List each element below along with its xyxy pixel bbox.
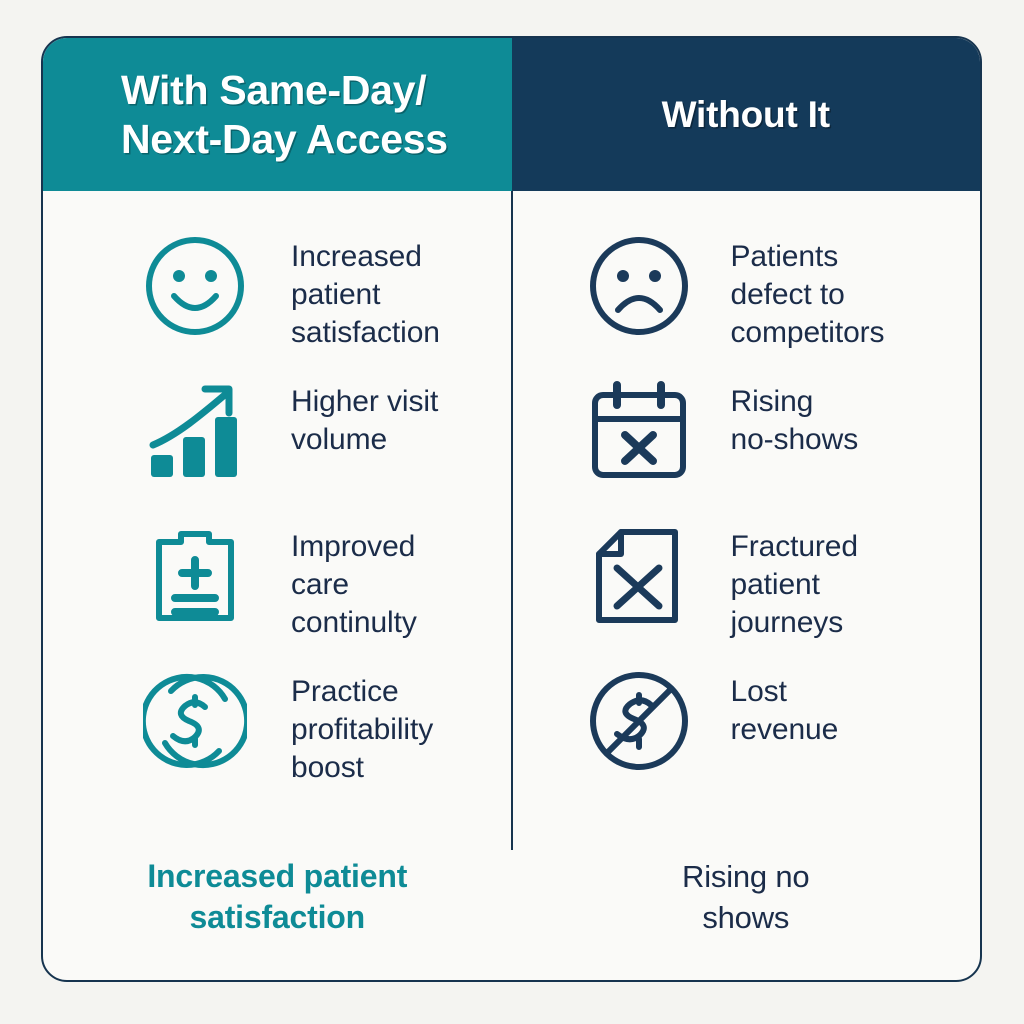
list-item-label: Higher visit volume — [291, 379, 438, 459]
list-item-label: Increased patient satisfaction — [291, 234, 440, 352]
list-item: Patients defect to competitors — [587, 234, 981, 379]
list-item: Rising no-shows — [587, 379, 981, 524]
header-row: With Same-Day/ Next-Day Access Without I… — [43, 38, 980, 191]
header-title-left: With Same-Day/ Next-Day Access — [121, 66, 512, 163]
list-item-label: Patients defect to competitors — [731, 234, 885, 352]
document-x-icon — [587, 524, 691, 628]
list-item: Fractured patient journeys — [587, 524, 981, 669]
sad-face-icon — [587, 234, 691, 338]
list-item-label: Improved care continulty — [291, 524, 417, 642]
header-title-right: Without It — [662, 94, 830, 136]
footer-row: Increased patient satisfaction Rising no… — [43, 850, 980, 980]
infographic-canvas: With Same-Day/ Next-Day Access Without I… — [0, 0, 1024, 1024]
header-cell-with-access: With Same-Day/ Next-Day Access — [43, 38, 512, 191]
list-item-label: Practice profitability boost — [291, 669, 433, 787]
footer-caption-left: Increased patient satisfaction — [147, 856, 407, 938]
bar-chart-up-arrow-icon — [143, 379, 247, 483]
list-item-label: Rising no-shows — [731, 379, 859, 459]
comparison-card: With Same-Day/ Next-Day Access Without I… — [41, 36, 982, 982]
list-item: Increased patient satisfaction — [143, 234, 512, 379]
footer-cell-left: Increased patient satisfaction — [43, 850, 512, 980]
clipboard-medical-icon — [143, 524, 247, 628]
body-row: Increased patient satisfaction Higher vi… — [43, 191, 980, 850]
footer-cell-right: Rising no shows — [512, 850, 981, 980]
list-item-label: Fractured patient journeys — [731, 524, 858, 642]
smiley-face-icon — [143, 234, 247, 338]
list-item: Improved care continulty — [143, 524, 512, 669]
list-item: Lost revenue — [587, 669, 981, 814]
dollar-prohibited-icon — [587, 669, 691, 773]
column-divider — [511, 191, 513, 850]
footer-caption-right: Rising no shows — [682, 856, 809, 938]
list-item-label: Lost revenue — [731, 669, 839, 749]
list-item: Practice profitability boost — [143, 669, 512, 814]
header-cell-without-it: Without It — [512, 38, 981, 191]
drawbacks-column: Patients defect to competitors Rising no… — [512, 191, 981, 850]
list-item: Higher visit volume — [143, 379, 512, 524]
dollar-refresh-icon — [143, 669, 247, 773]
benefits-column: Increased patient satisfaction Higher vi… — [43, 191, 512, 850]
calendar-x-icon — [587, 379, 691, 483]
